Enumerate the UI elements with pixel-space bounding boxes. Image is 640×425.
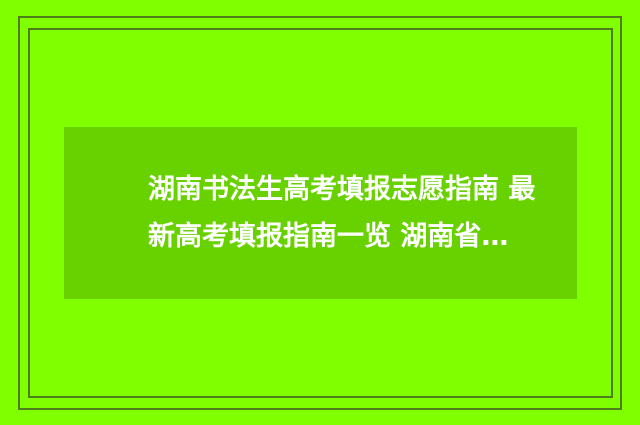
placeholder-card: 湖南书法生高考填报志愿指南 最 新高考填报指南一览 湖南省… — [0, 0, 640, 425]
caption-plate: 湖南书法生高考填报志愿指南 最 新高考填报指南一览 湖南省… — [64, 127, 577, 299]
caption-line-2: 新高考填报指南一览 湖南省… — [148, 213, 508, 260]
caption-line-1: 湖南书法生高考填报志愿指南 最 — [148, 166, 535, 213]
